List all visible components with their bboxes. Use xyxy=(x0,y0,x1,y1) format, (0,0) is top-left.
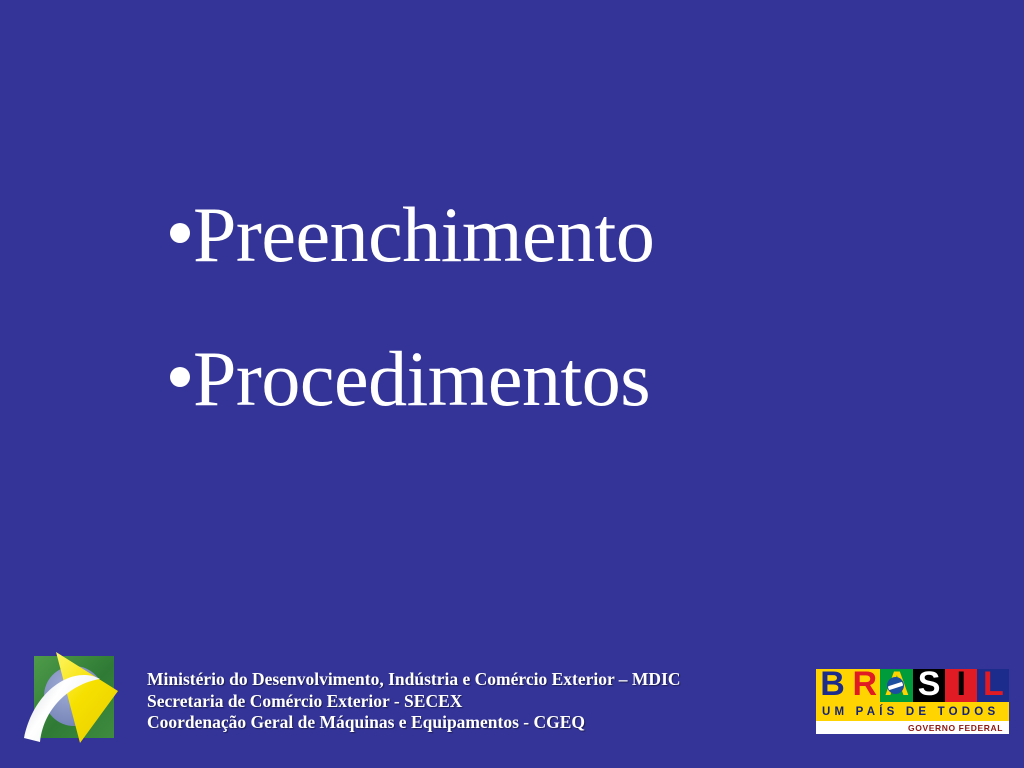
governo-federal-text: GOVERNO FEDERAL xyxy=(908,723,1003,733)
bullet-item-preenchimento: Preenchimento xyxy=(170,196,870,274)
brazil-flag-roundel-icon xyxy=(887,677,904,694)
footer-line-ministry: Ministério do Desenvolvimento, Indústria… xyxy=(147,669,681,691)
brasil-letter-i: I xyxy=(945,669,977,702)
brasil-slogan-band: UM PAÍS DE TODOS xyxy=(816,702,1009,721)
brasil-letter-b: B xyxy=(816,669,848,702)
bullet-label-preenchimento: Preenchimento xyxy=(193,196,654,274)
bullet-label-procedimentos: Procedimentos xyxy=(193,340,650,418)
brazil-government-swoosh-logo-icon xyxy=(18,643,130,755)
brasil-letter-l: L xyxy=(977,669,1009,702)
brasil-governo-federal-logo: B R A S I L UM PAÍS DE TODOS xyxy=(816,669,1009,734)
brasil-letter-a: A xyxy=(880,669,912,702)
footer-institution-text: Ministério do Desenvolvimento, Indústria… xyxy=(147,669,681,734)
brasil-slogan-text: UM PAÍS DE TODOS xyxy=(822,706,999,718)
footer-line-secretary: Secretaria de Comércio Exterior - SECEX xyxy=(147,691,681,713)
brasil-wordmark: B R A S I L xyxy=(816,669,1009,702)
flag-band xyxy=(888,681,904,689)
governo-federal-band: GOVERNO FEDERAL xyxy=(816,721,1009,734)
bullet-marker-icon xyxy=(170,367,190,387)
slide-canvas: Preenchimento Procedimentos xyxy=(0,0,1024,768)
bullet-item-procedimentos: Procedimentos xyxy=(170,340,870,418)
brasil-letter-r: R xyxy=(848,669,880,702)
bullet-marker-icon xyxy=(170,223,190,243)
footer-line-department: Coordenação Geral de Máquinas e Equipame… xyxy=(147,712,681,734)
slide-body: Preenchimento Procedimentos xyxy=(170,196,870,418)
brasil-letter-s: S xyxy=(913,669,945,702)
